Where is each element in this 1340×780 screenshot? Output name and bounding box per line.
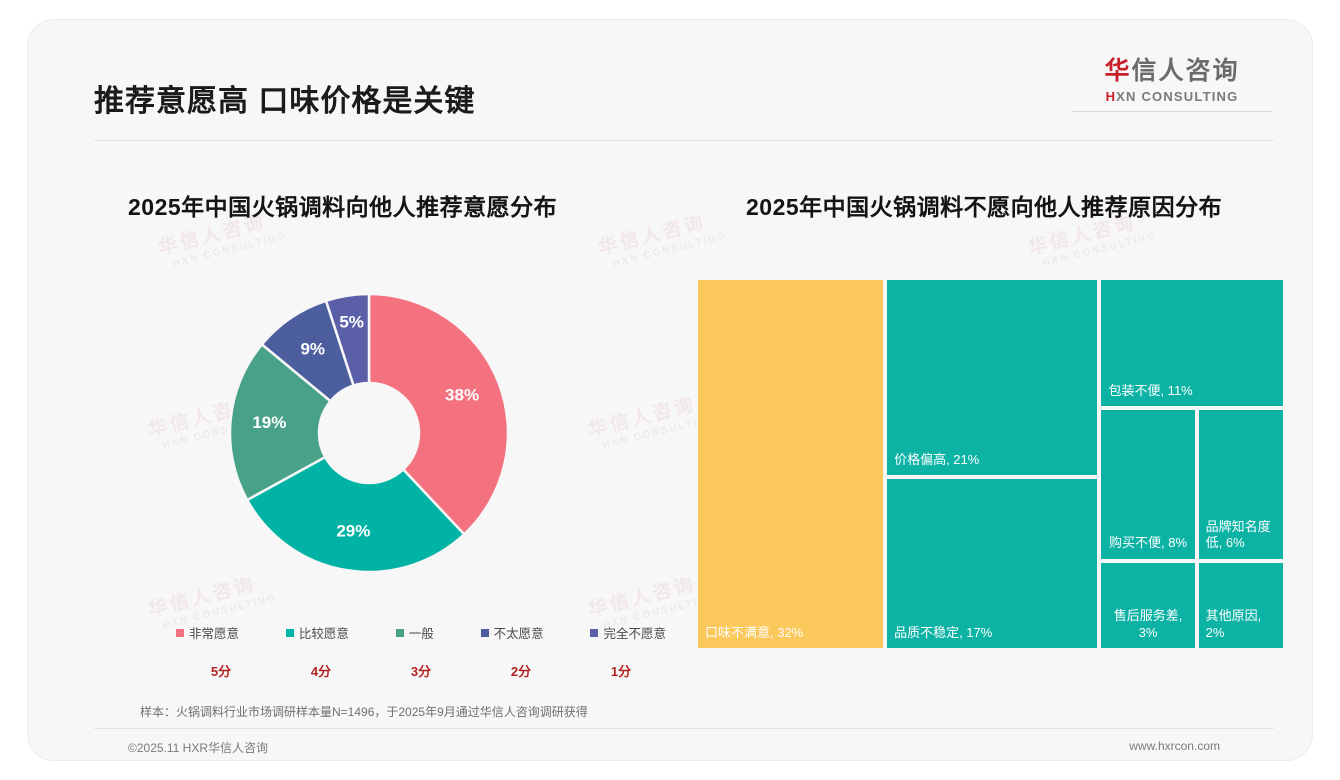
logo-chinese-text: 华信人咨询 (1072, 58, 1272, 86)
treemap-tile-label: 售后服务差, 3% (1101, 608, 1194, 648)
company-logo: 华信人咨询 HXN CONSULTING (1072, 58, 1272, 112)
legend-item[interactable]: 完全不愿意 (590, 623, 666, 642)
treemap-tile[interactable]: 包装不便, 11% (1099, 278, 1285, 408)
right-chart-title: 2025年中国火锅调料不愿向他人推荐原因分布 (746, 188, 1222, 222)
footer-website: www.hxrcon.com (1129, 739, 1220, 753)
sample-note: 样本：火锅调料行业市场调研样本量N=1496，于2025年9月通过华信人咨询调研… (140, 703, 588, 720)
logo-divider (1072, 111, 1272, 112)
watermark-cn: 华信人咨询 (595, 203, 725, 260)
treemap-tile[interactable]: 品牌知名度低, 6% (1197, 408, 1285, 561)
legend-item[interactable]: 非常愿意 (176, 623, 239, 642)
legend-label: 比较愿意 (299, 623, 349, 642)
legend-label: 一般 (409, 623, 434, 642)
treemap-chart: 口味不满意, 32%价格偏高, 21%品质不稳定, 17%包装不便, 11%购买… (696, 278, 1285, 650)
donut-chart: 38%29%19%9%5% (194, 268, 544, 598)
legend-label: 完全不愿意 (603, 623, 666, 642)
score-label: 5分 (176, 661, 266, 680)
score-scale-row: 5分4分3分2分1分 (176, 661, 666, 680)
donut-slice-label: 38% (445, 386, 479, 405)
legend-item[interactable]: 比较愿意 (286, 623, 349, 642)
footer-copyright: ©2025.11 HXR华信人咨询 (128, 739, 268, 756)
page-title: 推荐意愿高 口味价格是关键 (94, 76, 475, 120)
score-label: 3分 (376, 661, 466, 680)
treemap-tile-label: 价格偏高, 21% (887, 452, 1097, 475)
watermark-en: HXN CONSULTING (172, 230, 288, 269)
legend-swatch-icon (286, 629, 294, 637)
logo-accent-char: 华 (1104, 57, 1131, 85)
logo-en-accent: H (1106, 89, 1117, 104)
treemap-tile[interactable]: 其他原因, 2% (1197, 561, 1285, 650)
score-label: 1分 (576, 661, 666, 680)
legend-item[interactable]: 不太愿意 (481, 623, 544, 642)
treemap-tile[interactable]: 价格偏高, 21% (885, 278, 1099, 477)
treemap-tile[interactable]: 口味不满意, 32% (696, 278, 885, 650)
watermark-en: HXN CONSULTING (1042, 230, 1158, 269)
slide-canvas: 华信人咨询 HXN CONSULTING 华信人咨询 HXN CONSULTIN… (0, 0, 1340, 780)
treemap-tile-label: 品牌知名度低, 6% (1199, 519, 1283, 559)
treemap-tile[interactable]: 购买不便, 8% (1099, 408, 1196, 561)
legend-swatch-icon (481, 629, 489, 637)
treemap-tile-label: 包装不便, 11% (1101, 383, 1283, 406)
footer-divider (94, 728, 1274, 729)
donut-slice-label: 29% (336, 521, 370, 540)
watermark-en: HXN CONSULTING (612, 230, 728, 269)
score-label: 2分 (476, 661, 566, 680)
header-divider (94, 140, 1274, 141)
treemap-tile-label: 购买不便, 8% (1101, 535, 1194, 558)
donut-slice-label: 5% (339, 313, 364, 332)
legend-swatch-icon (176, 629, 184, 637)
legend-swatch-icon (590, 629, 598, 637)
watermark: 华信人咨询 HXN CONSULTING (595, 203, 728, 272)
legend-item[interactable]: 一般 (396, 623, 434, 642)
treemap-tile-label: 口味不满意, 32% (698, 625, 883, 648)
treemap-tile-label: 品质不稳定, 17% (887, 625, 1097, 648)
score-label: 4分 (276, 661, 366, 680)
left-chart-title: 2025年中国火锅调料向他人推荐意愿分布 (128, 188, 557, 222)
legend-swatch-icon (396, 629, 404, 637)
donut-slice-label: 19% (252, 413, 286, 432)
legend-label: 不太愿意 (494, 623, 544, 642)
slide-card: 华信人咨询 HXN CONSULTING 华信人咨询 HXN CONSULTIN… (28, 20, 1312, 760)
logo-en-rest: XN CONSULTING (1116, 89, 1238, 104)
treemap-tile-label: 其他原因, 2% (1199, 608, 1283, 648)
logo-cn-rest: 信人咨询 (1132, 57, 1240, 85)
logo-english-text: HXN CONSULTING (1072, 89, 1272, 104)
donut-slice-label: 9% (300, 340, 325, 359)
donut-legend: 非常愿意比较愿意一般不太愿意完全不愿意 (176, 623, 666, 642)
treemap-tile[interactable]: 售后服务差, 3% (1099, 561, 1196, 650)
treemap-tile[interactable]: 品质不稳定, 17% (885, 477, 1099, 650)
legend-label: 非常愿意 (189, 623, 239, 642)
donut-svg: 38%29%19%9%5% (194, 268, 544, 598)
